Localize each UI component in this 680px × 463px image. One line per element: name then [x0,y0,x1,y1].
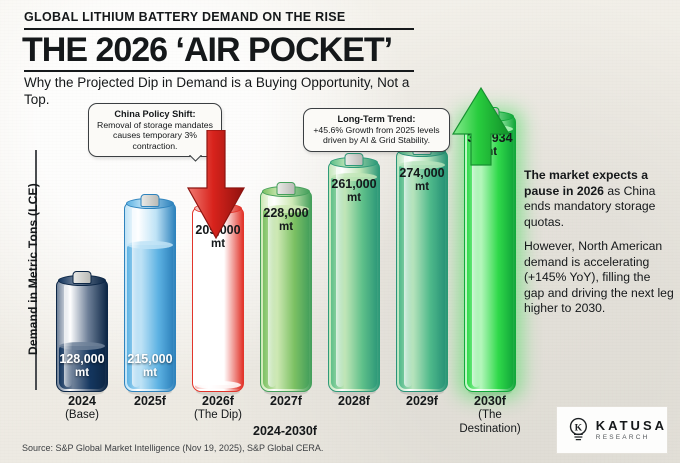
page-title: THE 2026 ‘AIR POCKET’ [22,31,442,69]
y-axis-label: Demand in Metric Tons (LCE) [26,174,40,364]
callout-trend-body: +45.6% Growth from 2025 levels driven by… [313,125,439,146]
bar-2024: 128,000mt [56,279,108,392]
lightbulb-icon: K [567,415,590,445]
source-note: Source: S&P Global Market Intelligence (… [22,443,323,453]
callout-trend-title: Long-Term Trend: [338,114,416,124]
commentary-block: The market expects a pause in 2026 as Ch… [524,168,674,326]
bar-value-label: 274,000mt [380,166,464,194]
callout-china-title: China Policy Shift: [114,109,195,119]
bar-value-label: 228,000mt [244,206,328,234]
commentary-paragraph-1: The market expects a pause in 2026 as Ch… [524,168,674,230]
bar-2027f: 228,000mt [260,190,312,392]
bar-2025f: 215,000mt [124,202,176,392]
logo-name: KATUSA [596,419,667,432]
header-rule-bottom [24,70,414,72]
callout-long-term-trend: Long-Term Trend: +45.6% Growth from 2025… [303,108,450,152]
logo-subtitle: RESEARCH [596,435,667,442]
kicker: GLOBAL LITHIUM BATTERY DEMAND ON THE RIS… [24,10,414,24]
commentary-paragraph-2: However, North American demand is accele… [524,239,674,317]
bar-2028f: 261,000mt [328,161,380,392]
katusa-research-logo: K KATUSA RESEARCH [556,406,668,454]
bar-value-label: 215,000mt [108,352,192,380]
x-tick-2030f: 2030f(The Destination) [447,394,533,436]
svg-text:K: K [575,422,583,433]
down-arrow-red-icon [182,130,248,242]
up-arrow-green-icon [448,86,514,166]
bar-2029f: 274,000mt [396,150,448,392]
x-axis-title: 2024-2030f [205,424,365,438]
header-rule-top [24,28,414,30]
